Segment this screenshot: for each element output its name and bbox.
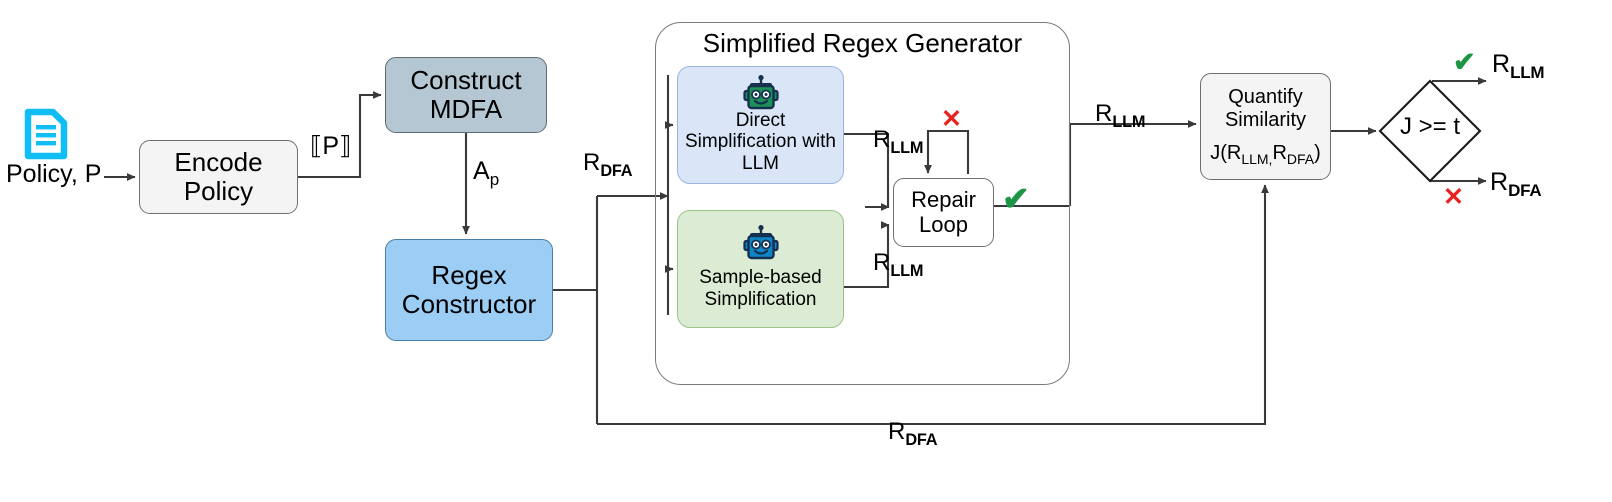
robot-icon-green <box>741 75 781 112</box>
repair-pass-icon: ✔ <box>1002 182 1030 215</box>
direct-simplification-line1: Direct <box>736 110 786 131</box>
rdfa-symbol: R <box>583 149 600 176</box>
encode-policy-line1: Encode <box>174 148 262 177</box>
repair-loop-line2: Loop <box>919 213 968 238</box>
rllm-symbol-1: R <box>873 126 890 153</box>
direct-simplification-line3: LLM <box>742 153 779 174</box>
construct-mdfa-line2: MDFA <box>430 95 502 124</box>
node-quantify-similarity[interactable]: Quantify Similarity J(RLLM,RDFA) <box>1200 73 1331 180</box>
formula-sub1: LLM, <box>1241 151 1272 167</box>
rdfa-symbol-2: R <box>1490 168 1508 196</box>
diagram-canvas: Policy, P Encode Policy ⟦P⟧ Construct MD… <box>0 0 1612 502</box>
decision-label: J >= t <box>1380 113 1480 141</box>
robot-icon-blue <box>741 225 781 262</box>
edge-label-rllm-output: RLLM <box>1095 100 1145 132</box>
policy-input-label: Policy, P <box>6 160 101 189</box>
repair-loop-line1: Repair <box>911 188 976 213</box>
edge-label-rdfa-input: RDFA <box>583 149 632 181</box>
node-repair-loop[interactable]: Repair Loop <box>893 178 994 247</box>
sample-simplification-line2: Simplification <box>705 289 817 310</box>
formula-sub2: DFA <box>1287 151 1314 167</box>
formula-prefix: J(R <box>1210 142 1241 164</box>
automaton-symbol: A <box>473 157 490 185</box>
rllm-subscript-3: LLM <box>1112 113 1145 131</box>
feedback-label-rdfa: RDFA <box>888 418 937 450</box>
rdfa-subscript-3: DFA <box>905 431 937 449</box>
node-sample-simplification[interactable]: Sample-based Simplification <box>677 210 844 328</box>
edge-label-automaton: Ap <box>473 157 499 190</box>
rdfa-symbol-3: R <box>888 418 905 445</box>
rllm-symbol-4: R <box>1492 50 1510 78</box>
rllm-symbol-3: R <box>1095 100 1112 127</box>
repair-fail-icon: ✕ <box>941 107 962 132</box>
quantify-line2: Similarity <box>1225 109 1306 131</box>
automaton-subscript: p <box>490 170 499 189</box>
rllm-symbol-2: R <box>873 249 890 276</box>
edge-label-rllm-direct: RLLM <box>873 126 923 158</box>
rdfa-subscript: DFA <box>600 162 632 180</box>
encode-policy-line2: Policy <box>184 177 253 206</box>
regex-constructor-line2: Constructor <box>402 290 536 319</box>
regex-constructor-line1: Regex <box>431 261 506 290</box>
node-regex-constructor[interactable]: Regex Constructor <box>385 239 553 341</box>
node-direct-simplification[interactable]: Direct Simplification with LLM <box>677 66 844 184</box>
rdfa-subscript-2: DFA <box>1508 181 1541 200</box>
document-icon <box>24 108 68 160</box>
edge-label-encoded-policy: ⟦P⟧ <box>310 131 351 161</box>
rllm-subscript-1: LLM <box>890 139 923 157</box>
rllm-subscript-2: LLM <box>890 262 923 280</box>
rllm-subscript-4: LLM <box>1510 63 1544 82</box>
group-title: Simplified Regex Generator <box>655 28 1070 59</box>
output-label-rllm: RLLM <box>1492 50 1544 83</box>
construct-mdfa-line1: Construct <box>410 66 521 95</box>
quantify-formula: J(RLLM,RDFA) <box>1210 142 1321 168</box>
node-construct-mdfa[interactable]: Construct MDFA <box>385 57 547 133</box>
output-label-rdfa: RDFA <box>1490 168 1541 201</box>
direct-simplification-line2: Simplification with <box>685 131 836 152</box>
edge-label-rllm-sample: RLLM <box>873 249 923 281</box>
formula-mid: R <box>1272 142 1286 164</box>
sample-simplification-line1: Sample-based <box>699 267 822 288</box>
formula-suffix: ) <box>1314 142 1321 164</box>
node-encode-policy[interactable]: Encode Policy <box>139 140 298 214</box>
decision-pass-icon: ✔ <box>1453 49 1476 76</box>
quantify-line1: Quantify <box>1228 86 1302 108</box>
decision-fail-icon: ✕ <box>1443 185 1464 210</box>
